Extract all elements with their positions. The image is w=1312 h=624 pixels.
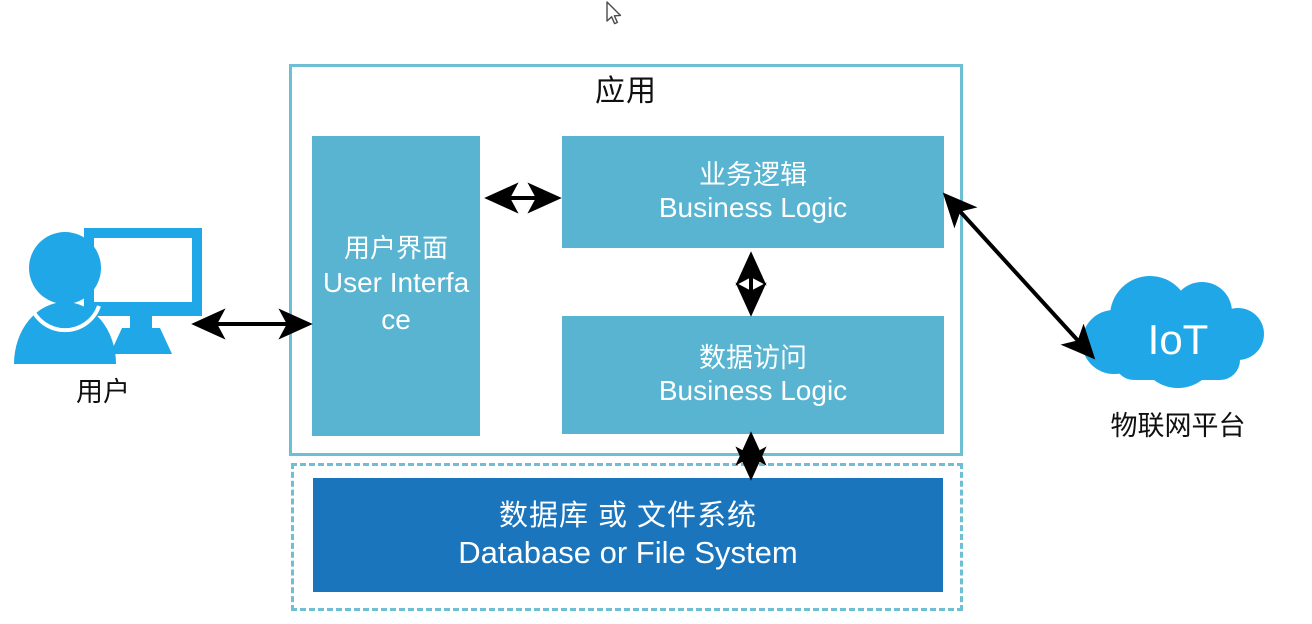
box-user-interface-cn-label: 用户界面 — [344, 233, 448, 264]
box-database-en-label: Database or File System — [458, 534, 797, 571]
application-title: 应用 — [289, 74, 963, 110]
cloud-icon — [1078, 276, 1278, 396]
iot-platform-label: 物联网平台 — [1058, 404, 1298, 443]
box-business-logic-cn-label: 业务逻辑 — [699, 160, 807, 192]
box-business-logic-en-label: Business Logic — [659, 191, 847, 224]
box-data-access-en-label: Business Logic — [659, 374, 847, 407]
box-data-access[interactable]: 数据访问 Business Logic — [562, 316, 944, 434]
box-user-interface-en-label: User Interface — [318, 264, 474, 340]
box-data-access-cn-label: 数据访问 — [699, 343, 807, 375]
user-label: 用户 — [10, 370, 196, 409]
box-business-logic[interactable]: 业务逻辑 Business Logic — [562, 136, 944, 248]
diagram-canvas: 应用 用户界面 User Interface 业务逻辑 Business Log… — [0, 0, 1312, 624]
connector-business-logic-to-iot — [946, 196, 1092, 356]
box-user-interface[interactable]: 用户界面 User Interface — [312, 136, 480, 436]
box-database-cn-label: 数据库 或 文件系统 — [499, 499, 757, 534]
box-database[interactable]: 数据库 或 文件系统 Database or File System — [313, 478, 943, 592]
mouse-cursor-icon — [604, 0, 626, 28]
